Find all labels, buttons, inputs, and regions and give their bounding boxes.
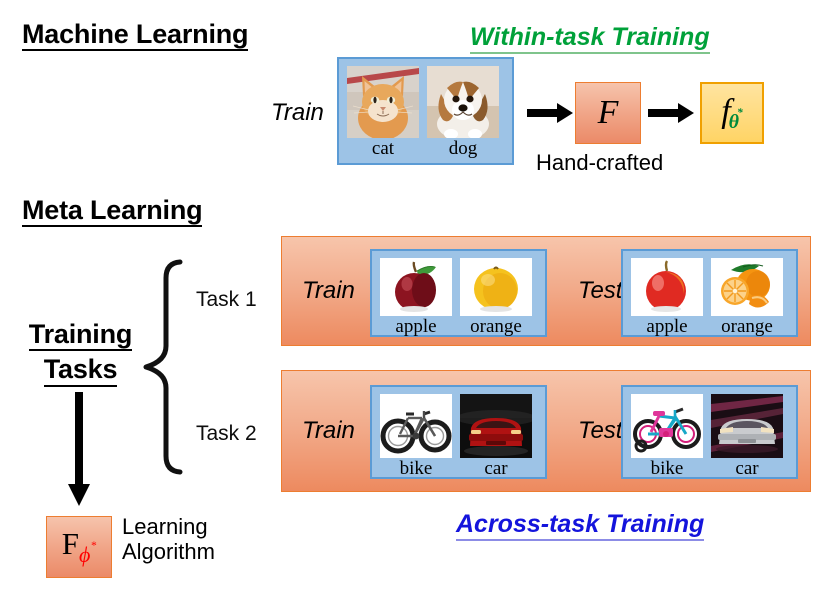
sample-orange[interactable]: orange — [711, 258, 783, 338]
training-tasks-label: Training Tasks — [18, 320, 143, 387]
learned-model-box[interactable]: fθ* — [700, 82, 764, 144]
photo-kids-bike-icon — [631, 394, 703, 458]
sample-caption: car — [735, 458, 758, 480]
sample-caption: cat — [372, 138, 394, 160]
training-tasks-line1: Training — [29, 320, 132, 351]
arrow-down-icon — [62, 392, 96, 510]
training-tasks-line2: Tasks — [44, 355, 118, 386]
heading-meta-learning: Meta Learning — [22, 196, 202, 227]
sample-caption: bike — [651, 458, 684, 480]
sample-caption: apple — [646, 316, 687, 338]
algorithm-superscript-symbol: * — [90, 540, 96, 552]
callout-within-task-training: Within-task Training — [470, 24, 710, 54]
learning-algorithm-caption-line2: Algorithm — [122, 539, 215, 564]
task-1-test-sample-box[interactable]: apple — [621, 249, 798, 337]
sample-bike[interactable]: bike — [631, 394, 703, 480]
ml-train-sample-box[interactable]: cat — [337, 57, 514, 165]
task-2-train-split-label: Train — [302, 419, 355, 443]
photo-orange-whole-icon — [460, 258, 532, 316]
hand-crafted-function-box[interactable]: F — [575, 82, 641, 144]
task-2-label: Task 2 — [196, 422, 257, 446]
photo-silver-sedan-icon — [711, 394, 783, 458]
function-F-label: F — [598, 94, 619, 132]
sample-dog[interactable]: dog — [427, 66, 499, 160]
diagram-canvas: Machine Learning Within-task Training Tr… — [0, 0, 821, 594]
hand-crafted-caption: Hand-crafted — [536, 150, 663, 175]
task-1-train-split-label: Train — [302, 279, 355, 303]
algorithm-subscript-symbol: ϕ — [79, 542, 90, 567]
task-2-test-sample-box[interactable]: bike — [621, 385, 798, 479]
sample-apple[interactable]: apple — [380, 258, 452, 338]
learning-algorithm-caption-line1: Learning — [122, 514, 215, 539]
ml-train-split-label: Train — [271, 101, 324, 125]
photo-orange-sliced-icon — [711, 258, 783, 316]
sample-caption: dog — [449, 138, 478, 160]
sample-caption: orange — [721, 316, 773, 338]
heading-machine-learning: Machine Learning — [22, 20, 248, 51]
callout-across-task-training: Across-task Training — [456, 511, 704, 541]
arrow-right-icon-1 — [527, 100, 575, 126]
model-superscript-symbol: * — [737, 107, 743, 119]
photo-red-suv-icon — [460, 394, 532, 458]
photo-dog-icon — [427, 66, 499, 138]
learned-model-label: fθ* — [721, 93, 743, 134]
sample-cat[interactable]: cat — [347, 66, 419, 160]
sample-bike[interactable]: bike — [380, 394, 452, 480]
sample-orange[interactable]: orange — [460, 258, 532, 338]
photo-apple-dark-red-icon — [380, 258, 452, 316]
tasks-curly-brace-icon — [140, 258, 186, 476]
learning-algorithm-caption: Learning Algorithm — [122, 514, 215, 565]
photo-mountain-bike-icon — [380, 394, 452, 458]
sample-car[interactable]: car — [460, 394, 532, 480]
task-2-panel: Train — [281, 370, 811, 492]
task-2-test-split-label: Test — [578, 419, 622, 443]
algorithm-base-symbol: F — [62, 526, 79, 561]
photo-apple-bright-red-icon — [631, 258, 703, 316]
sample-caption: car — [484, 458, 507, 480]
sample-car[interactable]: car — [711, 394, 783, 480]
sample-caption: apple — [395, 316, 436, 338]
sample-caption: orange — [470, 316, 522, 338]
task-2-train-sample-box[interactable]: bike car — [370, 385, 547, 479]
task-1-label: Task 1 — [196, 288, 257, 312]
sample-apple[interactable]: apple — [631, 258, 703, 338]
task-1-panel: Train apple — [281, 236, 811, 346]
task-1-train-sample-box[interactable]: apple orange — [370, 249, 547, 337]
learning-algorithm-label: Fϕ* — [62, 526, 96, 568]
task-1-test-split-label: Test — [578, 279, 622, 303]
learning-algorithm-box[interactable]: Fϕ* — [46, 516, 112, 578]
sample-caption: bike — [400, 458, 433, 480]
photo-cat-icon — [347, 66, 419, 138]
arrow-right-icon-2 — [648, 100, 696, 126]
